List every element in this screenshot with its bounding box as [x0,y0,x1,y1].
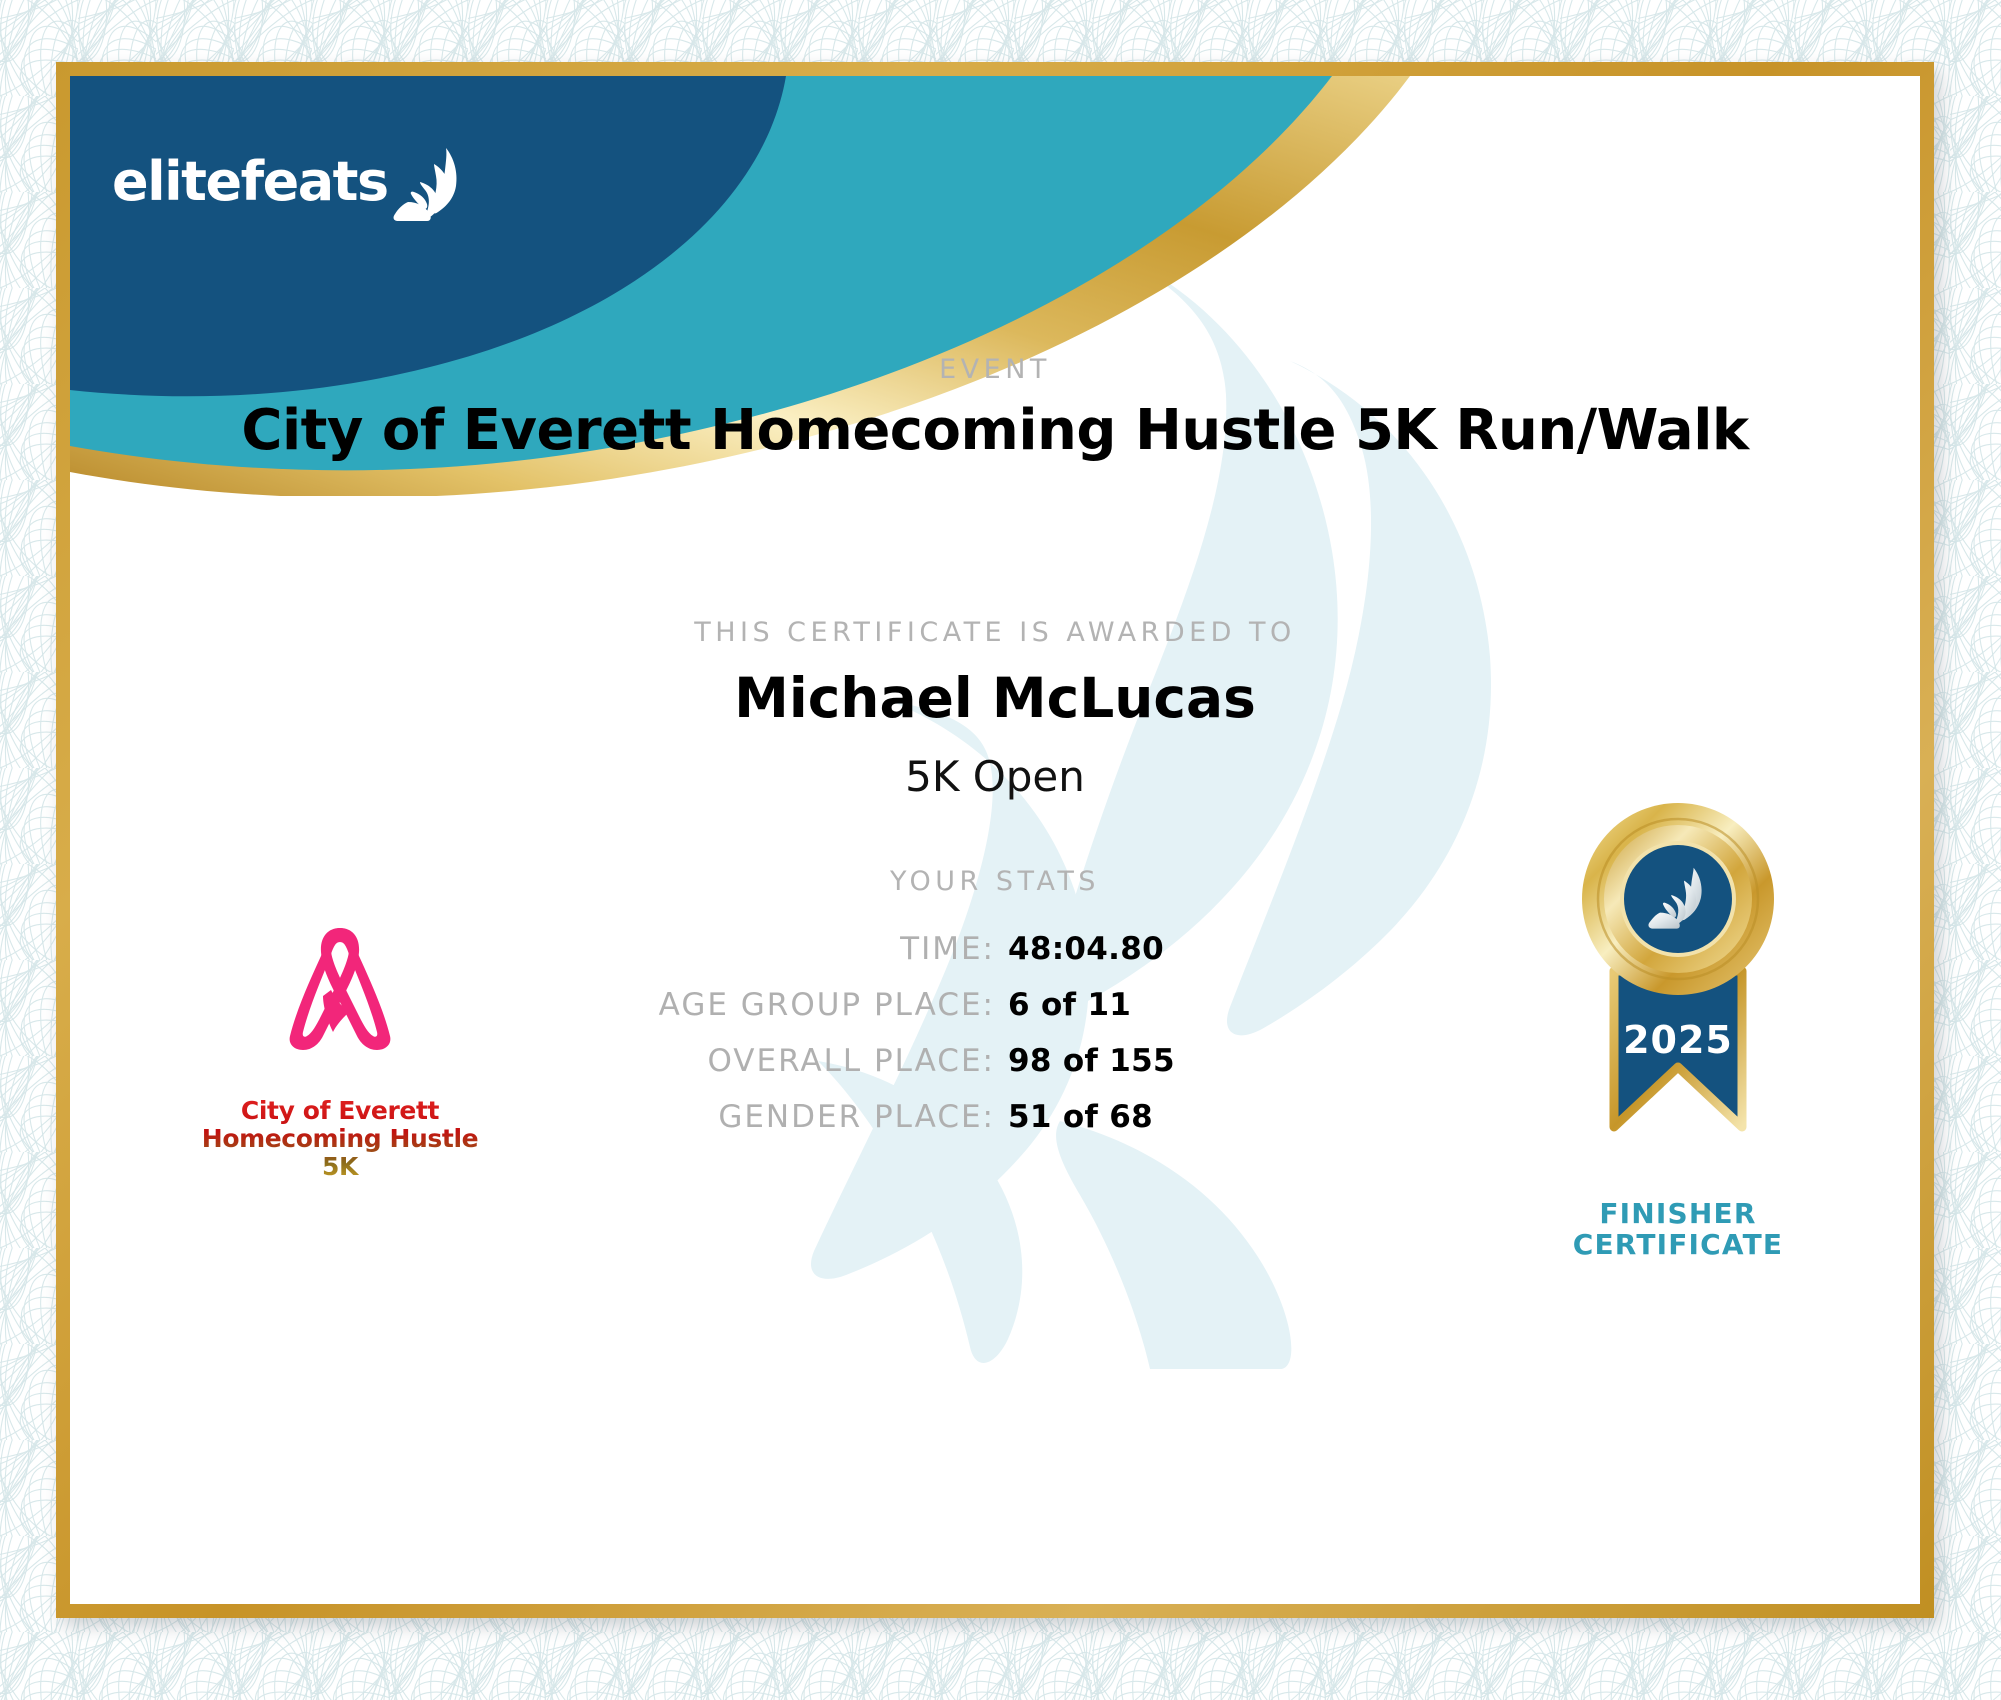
finisher-medal-badge: 2025 FINISHER CERTIFICATE [1528,791,1828,1261]
certificate-gold-frame: elitefeats EVENT City of Everett Homecom… [56,62,1934,1618]
certificate-body: elitefeats EVENT City of Everett Homecom… [70,76,1920,1604]
event-logo-caption-line1: City of Everett [180,1097,500,1125]
stat-value-overall-place: 98 of 155 [995,1043,1387,1079]
event-title: City of Everett Homecoming Hustle 5K Run… [70,398,1920,463]
stat-label-overall-place: OVERALL PLACE: [603,1043,995,1079]
awarded-to-label: THIS CERTIFICATE IS AWARDED TO [70,617,1920,648]
stat-value-age-group-place: 6 of 11 [995,987,1387,1023]
medal-caption-line1: FINISHER [1528,1198,1828,1229]
stat-label-age-group-place: AGE GROUP PLACE: [603,987,995,1023]
gold-medal-rosette-icon: 2025 [1558,791,1798,1191]
stat-label-time: TIME: [603,931,995,967]
event-logo-caption-line2: Homecoming Hustle 5K [180,1125,500,1181]
recipient-name: Michael McLucas [70,666,1920,730]
certificate-content: EVENT City of Everett Homecoming Hustle … [70,76,1920,1604]
stat-value-time: 48:04.80 [995,931,1387,967]
medal-caption-line2: CERTIFICATE [1528,1229,1828,1260]
medal-caption: FINISHER CERTIFICATE [1528,1198,1828,1261]
event-logo-caption: City of Everett Homecoming Hustle 5K [180,1097,500,1181]
pink-awareness-ribbon-icon [265,916,415,1084]
event-label: EVENT [70,354,1920,385]
medal-year: 2025 [1623,1018,1733,1062]
stat-label-gender-place: GENDER PLACE: [603,1099,995,1135]
stat-value-gender-place: 51 of 68 [995,1099,1387,1135]
event-logo: City of Everett Homecoming Hustle 5K [180,916,500,1181]
